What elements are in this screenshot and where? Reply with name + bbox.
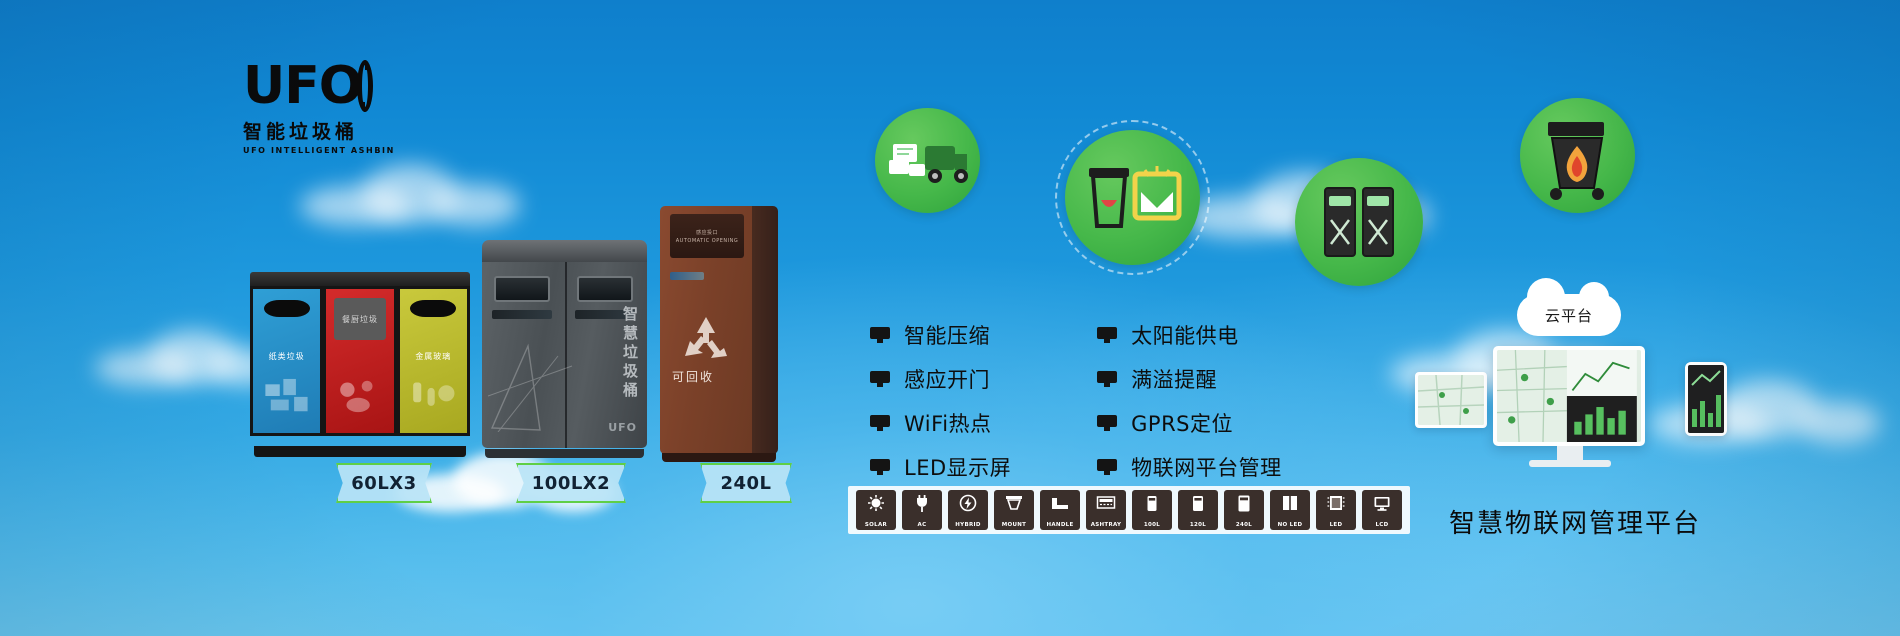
feature-list: 智能压缩 感应开门 WiFi热点 LED显示屏 太阳能供电 满溢提醒	[870, 320, 1282, 482]
feature-item: 智能压缩	[870, 320, 1011, 350]
logo-wordmark: UFO	[243, 60, 362, 112]
feature-item: WiFi热点	[870, 408, 1011, 438]
compartment-screen: 餐厨垃圾	[334, 298, 385, 340]
monitor-icon	[1097, 327, 1117, 343]
feature-label: WiFi热点	[904, 408, 992, 438]
led-strip-left	[492, 310, 552, 319]
brown-bin-side	[748, 206, 778, 454]
plug-icon	[911, 494, 933, 514]
spec-icon-label: AC	[902, 522, 942, 528]
spec-icon-label: LED	[1316, 522, 1356, 528]
product-triple-bin: 纸类垃圾 餐厨垃圾 金属玻璃	[250, 272, 470, 447]
double-bin-body: 智慧垃圾桶 UFO	[482, 262, 647, 448]
promo-banner: UFO 智能垃圾桶 UFO INTELLIGENT ASHBIN 纸类垃圾 餐厨…	[0, 0, 1900, 636]
bin-window-right	[577, 276, 633, 302]
spec-icon-label: 120L	[1178, 522, 1218, 528]
waste-illustration	[333, 367, 387, 425]
feature-label: 太阳能供电	[1131, 320, 1239, 350]
monitor-icon	[870, 327, 890, 343]
bin-120l-icon	[1187, 494, 1209, 514]
logo-ring-icon	[357, 60, 373, 112]
bin-240l-icon	[1233, 494, 1255, 514]
logo-english-name: UFO INTELLIGENT ASHBIN	[243, 146, 373, 155]
spec-icon-label: ASHTRAY	[1086, 522, 1126, 528]
platform-caption: 智慧物联网管理平台	[1430, 503, 1720, 540]
brown-bin-hood: 感应投口 AUTOMATIC OPENING	[670, 214, 744, 258]
compartment-metal-glass: 金属玻璃	[397, 286, 470, 436]
feature-label: LED显示屏	[904, 452, 1011, 482]
fire-detection-icon	[1520, 98, 1635, 213]
handle-icon	[1049, 494, 1071, 514]
feature-column-left: 智能压缩 感应开门 WiFi热点 LED显示屏	[870, 320, 1011, 482]
cloud-decor	[300, 160, 520, 230]
double-bin-brand-mark: UFO	[608, 421, 637, 434]
ufo-ring-logo-icon: UFO	[243, 58, 373, 114]
brown-bin-base	[662, 453, 776, 462]
bin-100l-icon	[1141, 494, 1163, 514]
spec-icon-handle: HANDLE	[1040, 490, 1080, 530]
map-dashboard-icon	[1418, 375, 1484, 425]
feature-label: 感应开门	[904, 364, 990, 394]
capacity-badge-100lx2: 100LX2	[516, 463, 626, 503]
waste-illustration	[406, 367, 460, 425]
garbage-truck-icon	[875, 108, 980, 213]
feature-item: GPRS定位	[1097, 408, 1282, 438]
surface-reflection	[488, 336, 574, 432]
feature-item: 满溢提醒	[1097, 364, 1282, 394]
double-bin-base	[485, 449, 644, 458]
cloud-platform-bubble: 云平台	[1517, 294, 1621, 336]
monitor-icon	[1097, 459, 1117, 475]
spec-icon-strip: SOLAR AC HYBRID MOUNT	[848, 486, 1410, 534]
compartment-label: 纸类垃圾	[253, 351, 320, 362]
tablet-screen	[1418, 375, 1484, 425]
spec-icon-hybrid: HYBRID	[948, 490, 988, 530]
no-led-icon	[1279, 494, 1301, 514]
wall-mount-icon	[1003, 494, 1025, 514]
feature-item: 物联网平台管理	[1097, 452, 1282, 482]
compartment-paper: 纸类垃圾	[250, 286, 323, 436]
spec-icon-ac: AC	[902, 490, 942, 530]
monitor-icon	[870, 415, 890, 431]
brown-bin-face: 感应投口 AUTOMATIC OPENING 可回收	[660, 206, 752, 454]
hybrid-bolt-icon	[957, 494, 979, 514]
badge-compaction	[1065, 130, 1200, 265]
spec-icon-label: SOLAR	[856, 522, 896, 528]
product-double-bin: 智慧垃圾桶 UFO	[482, 240, 647, 450]
led-panel-icon	[1325, 494, 1347, 514]
drop-slot-icon	[264, 300, 310, 317]
logo-chinese-name: 智能垃圾桶	[243, 117, 373, 144]
spec-icon-solar: SOLAR	[856, 490, 896, 530]
monitor-icon	[1097, 371, 1117, 387]
sensor-strip	[670, 272, 704, 280]
feature-column-right: 太阳能供电 满溢提醒 GPRS定位 物联网平台管理	[1097, 320, 1282, 482]
compartment-kitchen: 餐厨垃圾	[323, 286, 396, 436]
hood-label-cn: 感应投口	[696, 229, 718, 236]
badge-fire-alarm	[1520, 98, 1635, 213]
spec-icon-ashtray: ASHTRAY	[1086, 490, 1126, 530]
spec-icon-lcd: LCD	[1362, 490, 1402, 530]
cloud-platform-label: 云平台	[1545, 305, 1593, 326]
spec-icon-label: NO LED	[1270, 522, 1310, 528]
bin-window-left	[494, 276, 550, 302]
capacity-badge-60lx3: 60LX3	[336, 463, 432, 503]
drop-slot-icon	[410, 300, 456, 317]
feature-label: 智能压缩	[904, 320, 990, 350]
triple-bin-body: 纸类垃圾 餐厨垃圾 金属玻璃	[250, 286, 470, 436]
spec-icon-label: 240L	[1224, 522, 1264, 528]
compaction-icon	[1065, 130, 1200, 265]
iot-platform-illustration: 云平台	[1405, 300, 1735, 495]
monitor-icon	[1097, 415, 1117, 431]
monitor-icon	[870, 371, 890, 387]
triple-bin-base	[254, 446, 466, 457]
phone-screen	[1688, 365, 1724, 433]
monitor-icon	[870, 459, 890, 475]
spec-icon-label: 100L	[1132, 522, 1172, 528]
twin-bin-icon	[1295, 158, 1423, 286]
product-brown-bin: 感应投口 AUTOMATIC OPENING 可回收	[660, 206, 778, 454]
brown-bin-label: 可回收	[660, 368, 726, 385]
desktop-monitor	[1493, 346, 1645, 446]
tablet-device	[1415, 372, 1487, 428]
sun-icon	[865, 494, 887, 514]
spec-icon-label: MOUNT	[994, 522, 1034, 528]
phone-device	[1685, 362, 1727, 436]
spec-icon-no-led: NO LED	[1270, 490, 1310, 530]
feature-label: 满溢提醒	[1131, 364, 1217, 394]
badge-twin-bin	[1295, 158, 1423, 286]
lcd-screen-icon	[1371, 494, 1393, 514]
spec-icon-led: LED	[1316, 490, 1356, 530]
feature-label: 物联网平台管理	[1131, 452, 1282, 482]
dashboard-icon	[1497, 350, 1637, 442]
waste-illustration	[260, 367, 314, 425]
brand-logo: UFO 智能垃圾桶 UFO INTELLIGENT ASHBIN	[243, 58, 373, 155]
monitor-base	[1529, 460, 1611, 467]
recycle-icon	[679, 314, 733, 364]
feature-item: LED显示屏	[870, 452, 1011, 482]
spec-icon-label: HYBRID	[948, 522, 988, 528]
spec-icon-240l: 240L	[1224, 490, 1264, 530]
spec-icon-100l: 100L	[1132, 490, 1172, 530]
capacity-badge-240l: 240L	[700, 463, 792, 503]
ashtray-icon	[1095, 494, 1117, 514]
spec-icon-label: HANDLE	[1040, 522, 1080, 528]
feature-item: 感应开门	[870, 364, 1011, 394]
hood-label-en: AUTOMATIC OPENING	[676, 238, 738, 244]
spec-icon-label: LCD	[1362, 522, 1402, 528]
compartment-label: 餐厨垃圾	[342, 314, 378, 325]
spec-icon-120l: 120L	[1178, 490, 1218, 530]
monitor-screen	[1497, 350, 1641, 442]
feature-item: 太阳能供电	[1097, 320, 1282, 350]
compartment-label: 金属玻璃	[400, 351, 467, 362]
spec-icon-mount: MOUNT	[994, 490, 1034, 530]
badge-collection-truck	[875, 108, 980, 213]
mobile-dashboard-icon	[1688, 365, 1724, 433]
double-bin-side-label: 智慧垃圾桶	[620, 306, 641, 401]
feature-label: GPRS定位	[1131, 408, 1233, 438]
